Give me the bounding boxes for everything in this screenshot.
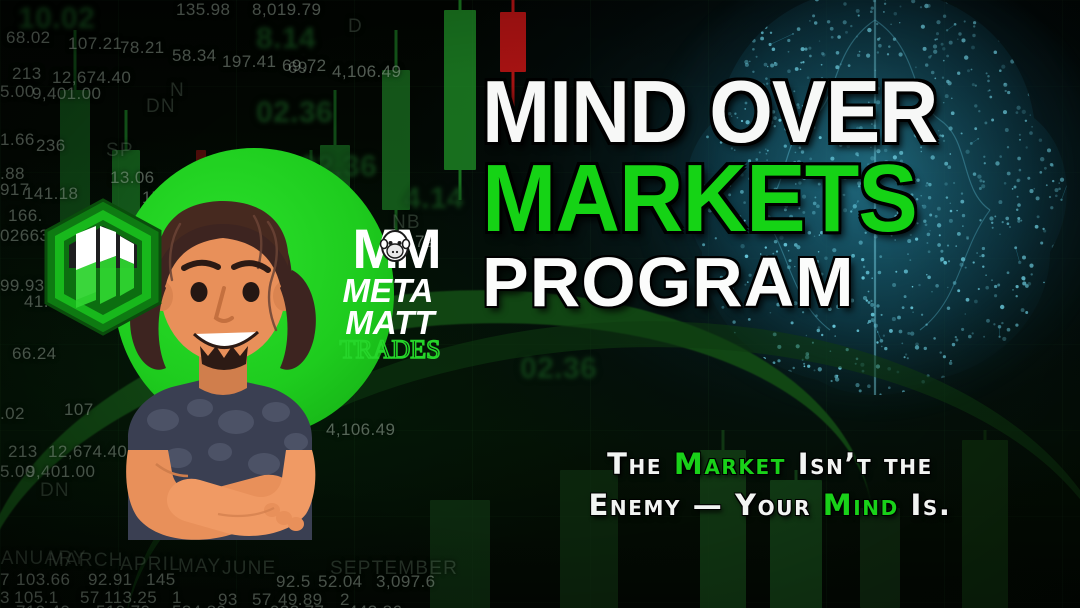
ticker-value: 8,019.79 [252,0,321,20]
title-block: MIND OVER MARKETS PROGRAM [482,72,1002,317]
subtitle-line-1: The Market Isn’t the [500,444,1040,485]
ticker-value: JUNE [222,558,276,580]
subtitle-seg-market: Market [674,447,786,481]
thumbnail-canvas: 10.02135.988,019.7968.02107.2178.2158.34… [0,0,1080,608]
ticker-value: 66.24 [12,344,57,364]
ticker-value: 92.91 [88,570,133,590]
ticker-value: 5.00 [0,82,35,102]
ticker-value: 8.14 [256,22,316,56]
ticker-value: 57 [252,590,272,608]
gorilla-head-icon [381,231,410,261]
title-line-markets: MARKETS [482,155,966,243]
ticker-value: 933.77 [270,602,324,608]
ticker-value: MAY [178,556,221,578]
ticker-value: 213 [8,442,38,462]
metamatt-trades-logo[interactable]: MM META MATT TRADES [338,216,452,366]
ticker-value: 68.02 [6,28,51,48]
ticker-value: 719.49 [16,602,70,608]
title-line-program: PROGRAM [482,247,1002,317]
ticker-value: 9,401.00 [32,84,101,104]
ticker-value: D [348,16,363,38]
ticker-value: 519.70 [96,602,150,608]
ticker-value: 107.21 [68,34,122,54]
ticker-value: 236 [36,136,66,156]
ticker-value: 3,097.6 [376,572,436,592]
ticker-value: 103.66 [16,570,70,590]
mm-trades-text: TRADES [339,335,440,364]
subtitle-seg-isnt: Isn’t the [786,447,933,481]
ticker-value: 92.5 [276,572,311,592]
ticker-value: DN [146,96,176,118]
ticker-value: 58.34 [172,46,217,66]
pb-shield-logo[interactable] [38,196,168,338]
ticker-value: 584.89 [172,602,226,608]
subtitle-line-2: Enemy — Your Mind Is. [500,485,1040,526]
ticker-value: 443.86 [348,602,402,608]
ticker-value: 1.66 [0,130,35,150]
ticker-value: 4.14 [404,182,464,216]
ticker-value: 69.72 [282,56,327,76]
ticker-value: .02 [0,404,25,424]
ticker-value: MARCH [48,550,124,572]
ticker-value: 3 [0,588,10,608]
ticker-value: 135.98 [176,0,230,20]
ticker-value: 213 [12,64,42,84]
subtitle-seg-is: Is. [899,488,952,522]
title-line-mind-over: MIND OVER [482,72,966,153]
ticker-value: 145 [146,570,176,590]
subtitle: The Market Isn’t the Enemy — Your Mind I… [500,444,1040,526]
ticker-value: 02.36 [520,352,597,386]
ticker-value: 7 [0,570,10,590]
subtitle-seg-mind: Mind [823,488,899,522]
subtitle-seg-enemy: Enemy — Your [588,488,822,522]
ticker-value: 78.21 [120,38,165,58]
subtitle-seg-the: The [607,447,674,481]
ticker-value: 52.04 [318,572,363,592]
ticker-value: DN [40,480,70,502]
ticker-value: 4,106.49 [332,62,401,82]
